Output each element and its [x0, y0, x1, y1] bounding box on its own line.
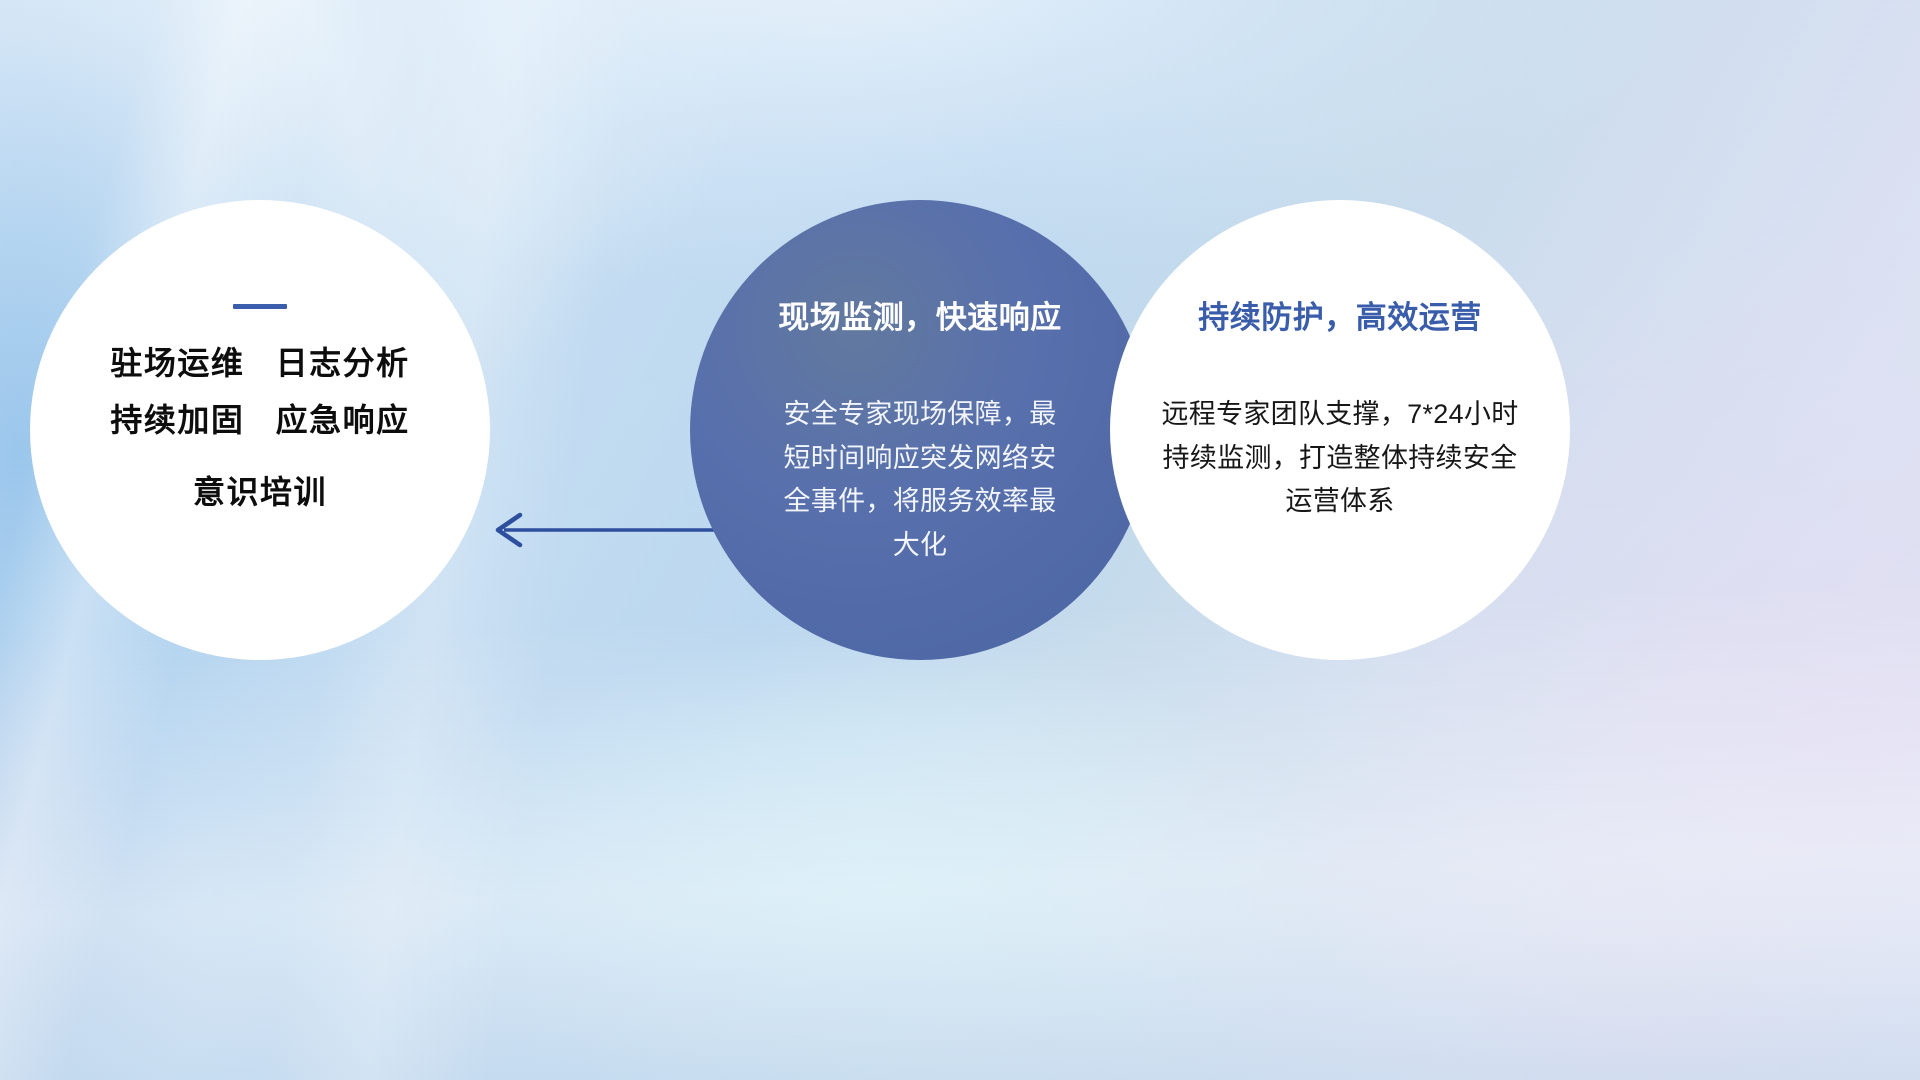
- middle-monitoring-circle[interactable]: 现场监测，快速响应 安全专家现场保障，最短时间响应突发网络安全事件，将服务效率最…: [690, 200, 1150, 660]
- left-service-line-2: 持续加固 应急响应: [110, 404, 409, 438]
- left-service-line-3: 意识培训: [193, 476, 327, 510]
- middle-circle-body: 安全专家现场保障，最短时间响应突发网络安全事件，将服务效率最大化: [770, 393, 1070, 568]
- slide-canvas: 驻场运维 日志分析 持续加固 应急响应 意识培训 现场监测，快速响应 安全专家现…: [0, 0, 1920, 1080]
- left-service-circle[interactable]: 驻场运维 日志分析 持续加固 应急响应 意识培训: [30, 200, 490, 660]
- left-service-line-1: 驻场运维 日志分析: [110, 347, 409, 381]
- middle-circle-title: 现场监测，快速响应: [778, 292, 1062, 337]
- right-circle-title: 持续防护，高效运营: [1198, 292, 1482, 337]
- left-service-list: 驻场运维 日志分析 持续加固 应急响应 意识培训: [110, 347, 409, 510]
- right-operations-circle[interactable]: 持续防护，高效运营 远程专家团队支撑，7*24小时持续监测，打造整体持续安全运营…: [1110, 200, 1570, 660]
- right-circle-body: 远程专家团队支撑，7*24小时持续监测，打造整体持续安全运营体系: [1160, 393, 1520, 524]
- title-divider-dash: [233, 304, 287, 309]
